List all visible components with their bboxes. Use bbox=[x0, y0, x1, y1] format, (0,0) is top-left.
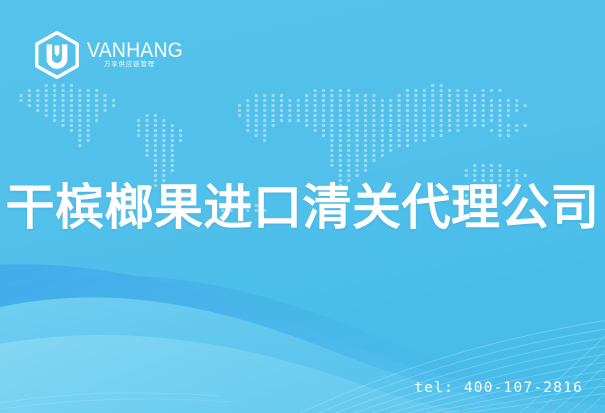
contact-telephone: tel: 400-107-2816 bbox=[414, 380, 583, 396]
logo-wordmark-text: VANHANG bbox=[87, 39, 183, 62]
hexagon-u-icon bbox=[34, 31, 80, 79]
promo-banner: VANHANG 万享供应链管理 干槟榔果进口清关代理公司 tel: 400-10… bbox=[0, 0, 605, 413]
company-logo: VANHANG 万享供应链管理 bbox=[34, 30, 199, 80]
logo-wordmark: VANHANG 万享供应链管理 bbox=[87, 35, 199, 75]
headline-title: 干槟榔果进口清关代理公司 bbox=[0, 178, 605, 238]
logo-subtext: 万享供应链管理 bbox=[104, 59, 155, 68]
